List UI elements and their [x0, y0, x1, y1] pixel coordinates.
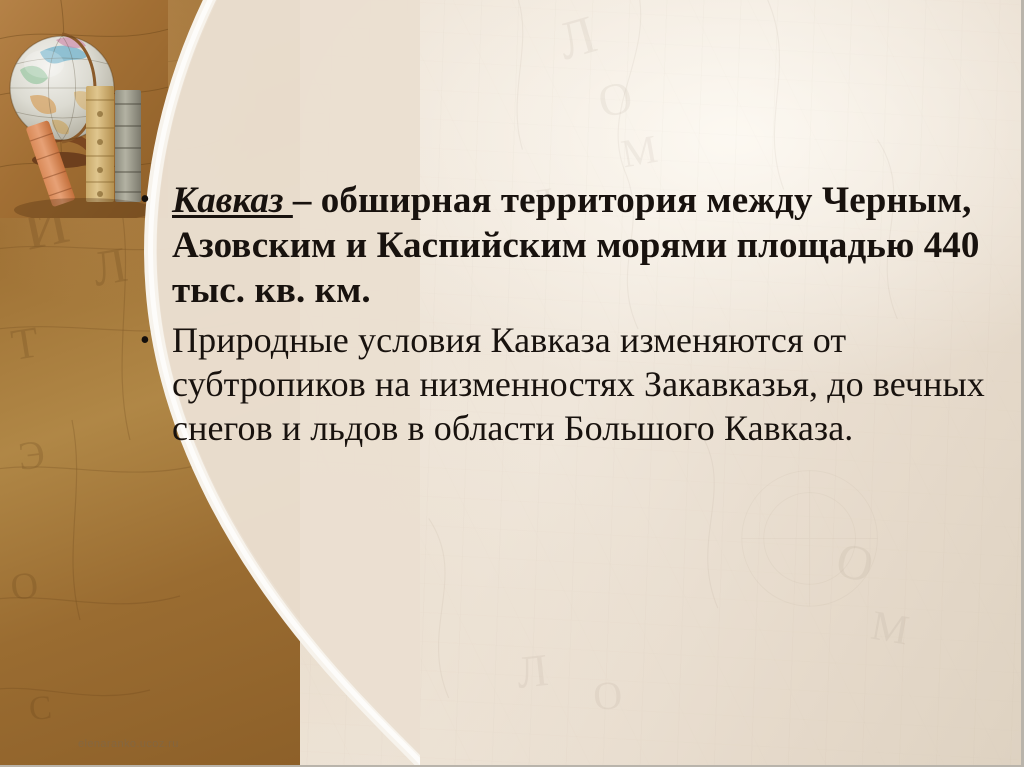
bullet-marker: • — [140, 319, 172, 355]
bullet-1-lead-term: Кавказ — [172, 180, 293, 221]
svg-text:О: О — [9, 564, 41, 609]
bullet-item-1: • Кавказ – обширная территория между Чер… — [140, 178, 1008, 313]
bullet-1-body: – обширная территория между Черным, Азов… — [172, 180, 980, 311]
bullet-item-2: • Природные условия Кавказа изменяются о… — [140, 319, 1008, 451]
source-watermark: elenaranko.ucoz.ru — [78, 738, 179, 750]
book-tan — [86, 86, 114, 202]
slide-body: • Кавказ – обширная территория между Чер… — [140, 178, 1008, 457]
svg-text:С: С — [27, 689, 53, 728]
book-grey — [115, 90, 141, 202]
bullet-text-2: Природные условия Кавказа изменяются от … — [172, 319, 1008, 451]
svg-text:Э: Э — [16, 431, 48, 479]
svg-text:Т: Т — [8, 317, 42, 370]
bullet-text-1: Кавказ – обширная территория между Черны… — [172, 178, 1008, 313]
presentation-slide: Л О М Л Л О О М — [0, 0, 1024, 767]
bullet-marker: • — [140, 178, 172, 214]
